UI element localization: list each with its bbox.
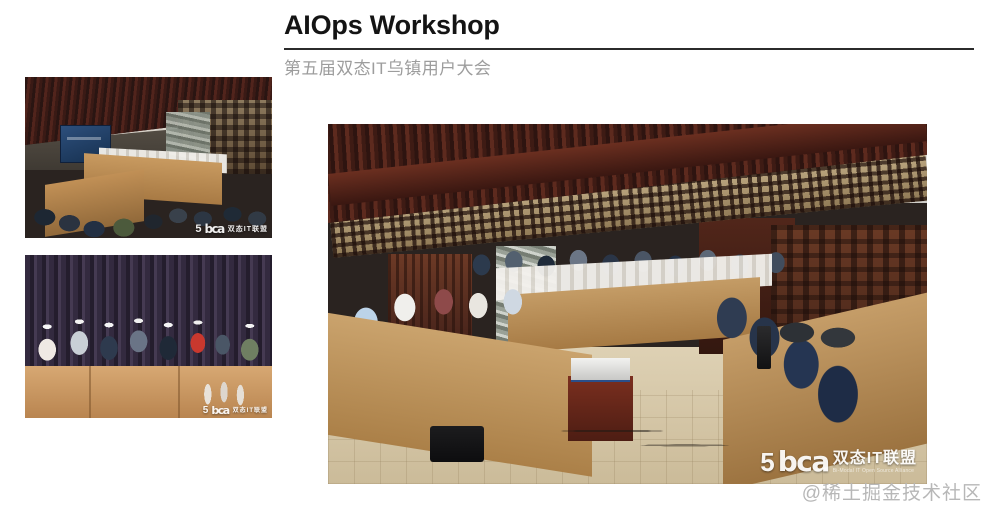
photo-laptops [771, 311, 879, 354]
page-title: AIOps Workshop [284, 8, 974, 42]
logo-edition-number: 5 [195, 224, 200, 235]
logo-edition-number: 5 [760, 449, 773, 475]
photo-face-masks [25, 304, 272, 346]
photo-floor-cables [544, 405, 772, 470]
alliance-logo: 5 bca 双态IT联盟 [195, 223, 268, 235]
logo-name-cn: 双态IT联盟 [233, 408, 268, 414]
logo-name-en: Bi-Modal IT Open Source Alliance [833, 469, 917, 474]
photo-projector [571, 358, 631, 382]
slide-canvas: AIOps Workshop 第五届双态IT乌镇用户大会 5 bca 双态IT联… [0, 0, 1000, 511]
thumbnail-photo-top[interactable]: 5 bca 双态IT联盟 [25, 77, 272, 238]
alliance-logo: 5 bca 双态IT联盟 [203, 405, 268, 416]
logo-text-block: 双态IT联盟 [228, 226, 268, 233]
site-watermark: @稀土掘金技术社区 [802, 478, 982, 505]
photo-table-fold-left [89, 366, 91, 418]
slide-header: AIOps Workshop 第五届双态IT乌镇用户大会 [284, 8, 974, 80]
logo-mark: bca [778, 448, 829, 476]
header-divider [284, 48, 974, 50]
logo-edition-number: 5 [203, 406, 208, 416]
photo-thermos [757, 326, 771, 369]
logo-text-block: 双态IT联盟 Bi-Modal IT Open Source Alliance [833, 451, 917, 474]
logo-mark: bca [211, 405, 228, 416]
logo-name-cn: 双态IT联盟 [228, 226, 268, 233]
photo-table-fold-right [178, 366, 180, 418]
logo-mark: bca [204, 223, 223, 235]
alliance-logo: 5 bca 双态IT联盟 Bi-Modal IT Open Source All… [760, 448, 917, 476]
logo-name-cn: 双态IT联盟 [833, 451, 917, 467]
photo-laptop-bag [430, 426, 484, 462]
logo-text-block: 双态IT联盟 [233, 408, 268, 414]
thumbnail-photo-bottom[interactable]: 5 bca 双态IT联盟 [25, 255, 272, 418]
page-subtitle: 第五届双态IT乌镇用户大会 [284, 58, 974, 80]
main-photo[interactable]: 5 bca 双态IT联盟 Bi-Modal IT Open Source All… [328, 124, 927, 484]
